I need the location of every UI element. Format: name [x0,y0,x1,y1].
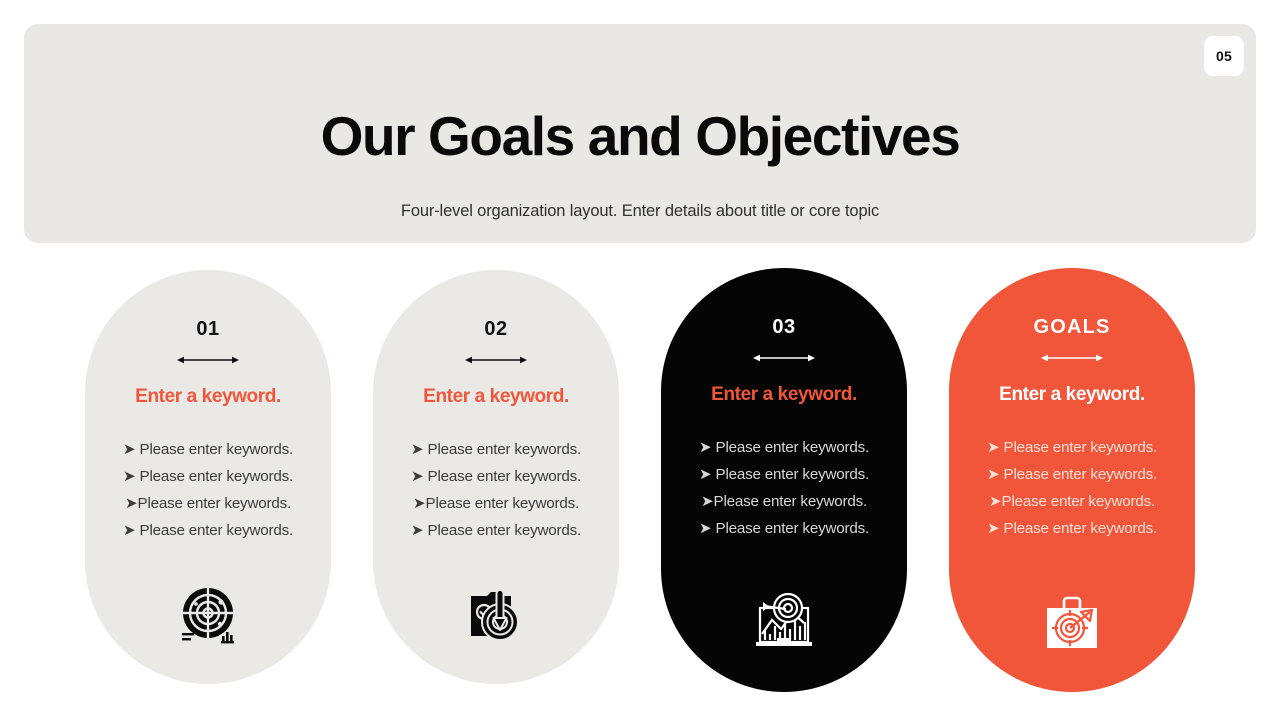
card-index-label: GOALS [1033,316,1110,339]
double-arrow-divider-icon [1041,352,1103,364]
list-item: ➤Please enter keywords. [967,488,1177,515]
goal-card-02[interactable]: 02 Enter a keyword. ➤ Please enter keywo… [373,270,619,684]
chart-target-icon [661,592,907,654]
list-item: ➤ Please enter keywords. [967,515,1177,542]
card-index-label: 03 [772,316,795,339]
card-bullet-list: ➤ Please enter keywords. ➤ Please enter … [949,434,1195,542]
goal-card-01[interactable]: 01 Enter a keyword. ➤ Please enter keywo… [85,270,331,684]
list-item: ➤ Please enter keywords. [391,436,601,463]
list-item: ➤ Please enter keywords. [679,434,889,461]
card-bullet-list: ➤ Please enter keywords. ➤ Please enter … [373,436,619,544]
list-item: ➤ Please enter keywords. [967,461,1177,488]
clipboard-target-icon [373,584,619,646]
radar-target-icon [85,584,331,646]
card-heading: Enter a keyword. [423,386,569,408]
list-item: ➤ Please enter keywords. [103,463,313,490]
card-bullet-list: ➤ Please enter keywords. ➤ Please enter … [661,434,907,542]
page-title: Our Goals and Objectives [24,108,1256,166]
double-arrow-divider-icon [753,352,815,364]
card-heading: Enter a keyword. [999,384,1145,406]
list-item: ➤ Please enter keywords. [679,461,889,488]
list-item: ➤ Please enter keywords. [103,517,313,544]
list-item: ➤Please enter keywords. [391,490,601,517]
list-item: ➤ Please enter keywords. [679,515,889,542]
list-item: ➤Please enter keywords. [103,490,313,517]
page-number-badge: 05 [1204,36,1244,76]
double-arrow-divider-icon [465,354,527,366]
double-arrow-divider-icon [177,354,239,366]
card-index-label: 02 [484,318,507,341]
cards-row: 01 Enter a keyword. ➤ Please enter keywo… [0,268,1280,698]
card-heading: Enter a keyword. [711,384,857,406]
card-index-label: 01 [196,318,219,341]
card-bullet-list: ➤ Please enter keywords. ➤ Please enter … [85,436,331,544]
list-item: ➤ Please enter keywords. [391,463,601,490]
card-heading: Enter a keyword. [135,386,281,408]
list-item: ➤ Please enter keywords. [103,436,313,463]
goal-card-03[interactable]: 03 Enter a keyword. ➤ Please enter keywo… [661,268,907,692]
header-banner: 05 Our Goals and Objectives Four-level o… [24,24,1256,243]
briefcase-target-icon [949,592,1195,654]
page-subtitle: Four-level organization layout. Enter de… [24,202,1256,221]
list-item: ➤ Please enter keywords. [967,434,1177,461]
list-item: ➤ Please enter keywords. [391,517,601,544]
goal-card-goals[interactable]: GOALS Enter a keyword. ➤ Please enter ke… [949,268,1195,692]
list-item: ➤Please enter keywords. [679,488,889,515]
